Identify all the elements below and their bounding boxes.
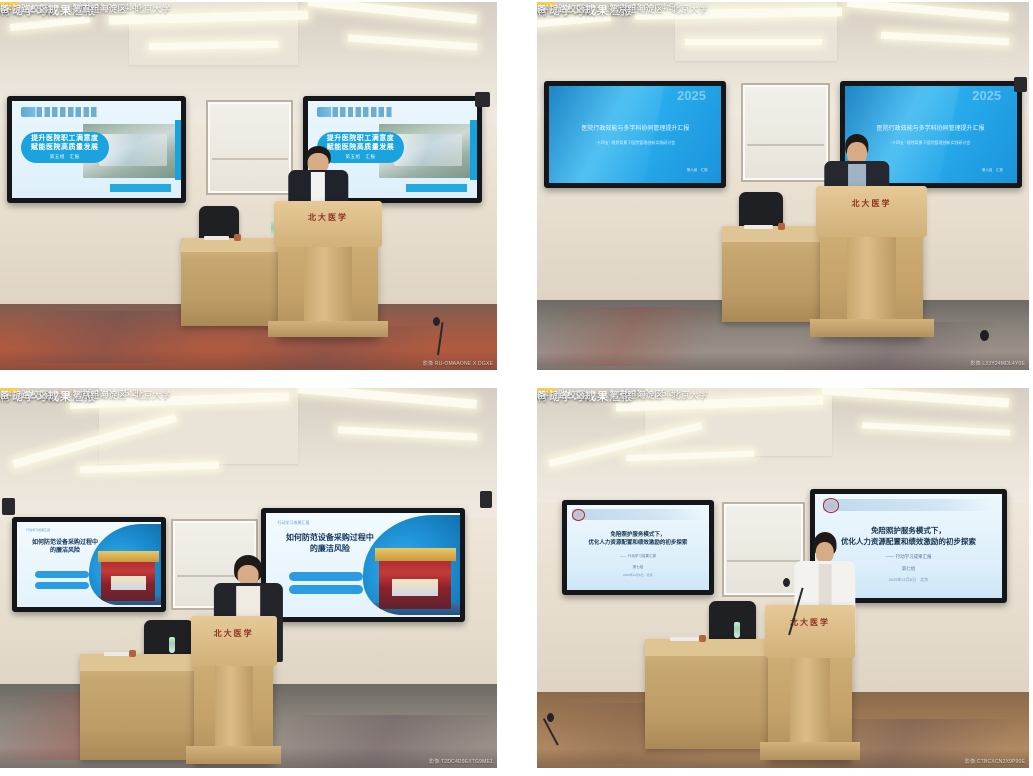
slide-signature: 第六组 汇报 [687,168,708,173]
panel-top-left: 提升医院职工满意度 赋能医院高质量发展 第五组 汇报 [0,2,497,370]
slide-title-line2: 赋能医院高质量发展 [31,144,99,153]
lecture-room-scene: 2025 医院行政效能与多学科协同管理提升汇报 “十四五” 规划背景下医院管理创… [537,2,1029,370]
lecture-room-scene: 行动学习成果汇报 如何防范设备采购过程中 的廉洁风险 行动学习成 [0,388,497,768]
label-note: 备 注: [537,2,606,15]
value-note: 第八组 [73,388,100,401]
slide-title-line1: 提升医院职工满意度 [327,135,395,144]
slide-title-line1: 如何防范设备采购过程中 [32,540,98,546]
slide-title-line1: 医院行政效能与多学科协同管理提升汇报 [560,123,711,132]
slide-signature: 第六组 汇报 [982,168,1003,173]
podium: 北大医学 [278,201,377,337]
slide-subtitle: “十四五” 规划背景下医院管理创新实践研讨会 [567,140,705,146]
presenter-table [80,654,204,760]
slide-title-line1: 如何防范设备采购过程中 [286,533,374,542]
slide-title-line2: 优化人力资源配置和绩效激励的初步探索 [588,540,687,546]
slide-logo [317,107,395,118]
slide-title-line2: 的廉洁风险 [310,544,350,553]
slide-logo [21,107,99,118]
podium: 北大医学 [194,616,274,764]
display-screen-left: 免陪照护服务模式下， 优化人力资源配置和绩效激励的初步探索 —— 行动学习成果汇… [562,500,715,595]
podium-brand: 北大医学 [820,198,923,209]
slide-left: 行动学习成果汇报 如何防范设备采购过程中 的廉洁风险 [17,522,161,607]
slide-title-line1: 提升医院职工满意度 [31,135,99,144]
slide-line3: 第七组 [581,565,695,570]
slide-left: 免陪照护服务模式下， 优化人力资源配置和绩效激励的初步探索 —— 行动学习成果汇… [567,505,710,590]
slide-title: 如何防范设备采购过程中 的廉洁风险 [276,533,385,555]
podium-brand: 北大医学 [278,212,377,223]
overlay-note-row: 备 注: 第六组 [537,2,637,15]
label-note: 备 注: [0,2,69,15]
value-note: 第七组 [610,388,637,401]
slide-button-date [289,585,363,594]
lecture-room-scene: 免陪照护服务模式下， 优化人力资源配置和绩效激励的初步探索 —— 行动学习成果汇… [537,388,1029,768]
podium-brand: 北大医学 [768,617,852,628]
presenter-table [181,238,293,326]
slide-year: 2025 [677,90,706,102]
slide-left: 2025 医院行政效能与多学科协同管理提升汇报 “十四五” 规划背景下医院管理创… [549,86,721,183]
lecture-room-scene: 提升医院职工满意度 赋能医院高质量发展 第五组 汇报 [0,2,497,370]
podium: 北大医学 [820,186,923,337]
slide-button-group [35,571,90,578]
slide-line4: 2025年11月6日 北京 [581,573,695,577]
panel-top-right: 2025 医院行政效能与多学科协同管理提升汇报 “十四五” 规划背景下医院管理创… [537,2,1029,370]
slide-left: 提升医院职工满意度 赋能医院高质量发展 第五组 汇报 [12,101,181,198]
slide-title-line2: 优化人力资源配置和绩效激励的初步探索 [841,537,976,546]
whiteboard [206,100,293,196]
label-note: 备 注: [537,388,606,401]
value-note: 第五组 [73,2,100,15]
value-note: 第六组 [610,2,637,15]
display-screen-left: 行动学习成果汇报 如何防范设备采购过程中 的廉洁风险 [12,517,166,612]
panel-bottom-right: 免陪照护服务模式下， 优化人力资源配置和绩效激励的初步探索 —— 行动学习成果汇… [537,388,1029,768]
podium: 北大医学 [768,605,852,761]
display-screen-left: 提升医院职工满意度 赋能医院高质量发展 第五组 汇报 [7,96,186,203]
watermark: 影像 CTBCXCN2X9P90E [965,758,1025,765]
photo-grid: 提升医院职工满意度 赋能医院高质量发展 第五组 汇报 [0,0,1033,776]
panel-bottom-left: 行动学习成果汇报 如何防范设备采购过程中 的廉洁风险 行动学习成 [0,388,497,768]
watermark: 影像 L33Y24MDL4Y0E [970,360,1025,367]
slide-title-line1: 免陪照护服务模式下， [610,532,665,538]
slide-title-pill: 提升医院职工满意度 赋能医院高质量发展 第五组 汇报 [21,132,109,163]
slide-toptag: 行动学习成果汇报 [278,520,310,526]
slide-subtitle: 第五组 汇报 [50,154,80,160]
slide-title-line2: 的廉洁风险 [50,548,80,554]
watermark: 影像 T2DC4D9EXTG9ME1 [429,758,493,765]
slide-title-line1: 医院行政效能与多学科协同管理提升汇报 [855,123,1006,132]
slide-toptag: 行动学习成果汇报 [26,528,50,532]
display-screen-right: 行动学习成果汇报 如何防范设备采购过程中 的廉洁风险 [261,508,465,622]
overlay-note-row: 备 注: 第七组 [537,388,637,401]
podium-brand: 北大医学 [194,628,274,639]
presenter-table [645,639,768,749]
slide-year: 2025 [972,90,1001,102]
slide-title: 如何防范设备采购过程中 的廉洁风险 [25,539,106,555]
slide-title: 免陪照护服务模式下， 优化人力资源配置和绩效激励的初步探索 [575,531,700,548]
watermark: 影像 RU-OMAAONE X DGXE [423,360,493,367]
overlay-note-row: 备 注: 第八组 [0,388,100,401]
display-screen-left: 2025 医院行政效能与多学科协同管理提升汇报 “十四五” 规划背景下医院管理创… [544,81,726,188]
slide-title-line1: 免陪照护服务模式下， [871,526,946,535]
whiteboard [741,83,830,182]
slide-button-date [35,582,90,589]
label-note: 备 注: [0,388,69,401]
overlay-note-row: 备 注: 第五组 [0,2,100,15]
slide-right: 行动学习成果汇报 如何防范设备采购过程中 的廉洁风险 [266,513,460,617]
slide-button-group [289,572,363,581]
slide-line2: —— 行动学习成果汇报 [581,554,695,559]
